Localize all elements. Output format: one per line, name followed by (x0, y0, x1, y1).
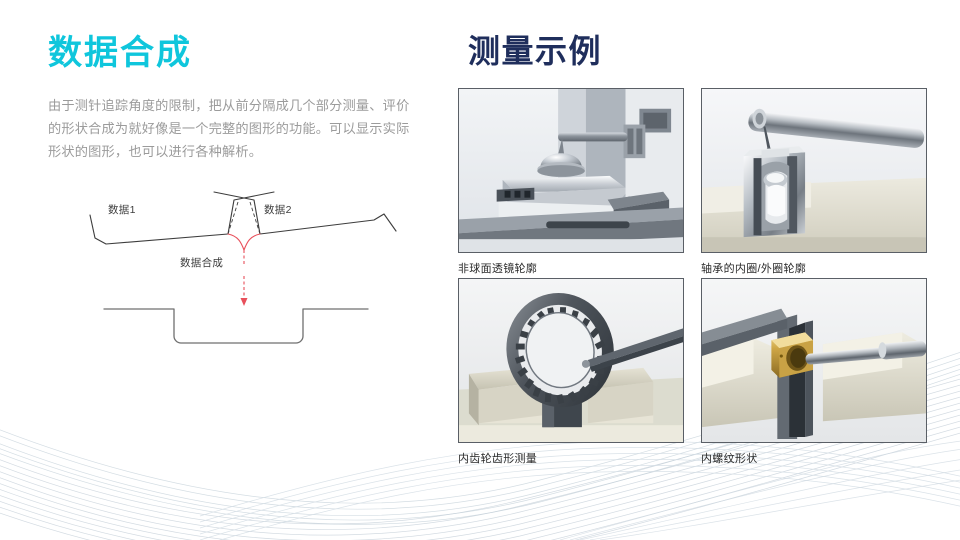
photo-cell: 内齿轮齿形测量 (458, 278, 684, 466)
internal-gear-tooth-photo (458, 278, 684, 443)
aspheric-lens-measurement-photo (458, 88, 684, 253)
diagram-label-data1: 数据1 (108, 202, 136, 217)
slide-root: 数据合成 由于测针追踪角度的限制，把从前分隔成几个部分测量、评价的形状合成为就好… (0, 0, 960, 540)
right-section: 测量示例 (468, 32, 934, 70)
measurement-example-photo-grid: 非球面透镜轮廓 (458, 88, 932, 474)
diagram-label-merge: 数据合成 (180, 255, 223, 270)
diagram-label-data2: 数据2 (264, 202, 292, 217)
right-section-title: 测量示例 (468, 32, 934, 70)
photo-caption: 非球面透镜轮廓 (458, 260, 684, 276)
internal-thread-photo (701, 278, 927, 443)
left-section: 数据合成 由于测针追踪角度的限制，把从前分隔成几个部分测量、评价的形状合成为就好… (48, 34, 440, 163)
photo-cell: 内螺纹形状 (701, 278, 927, 466)
left-section-title: 数据合成 (48, 34, 440, 73)
photo-caption: 轴承的内圈/外圈轮廓 (701, 260, 927, 276)
left-section-body-text: 由于测针追踪角度的限制，把从前分隔成几个部分测量、评价的形状合成为就好像是一个完… (48, 95, 420, 163)
photo-cell: 非球面透镜轮廓 (458, 88, 684, 276)
merge-arrow-icon (241, 298, 248, 306)
data-synthesis-diagram: 数据1 数据2 数据合成 (88, 176, 398, 351)
photo-caption: 内螺纹形状 (701, 450, 927, 466)
photo-cell: 轴承的内圈/外圈轮廓 (701, 88, 927, 276)
bearing-ring-profile-photo (701, 88, 927, 253)
photo-caption: 内齿轮齿形测量 (458, 450, 684, 466)
